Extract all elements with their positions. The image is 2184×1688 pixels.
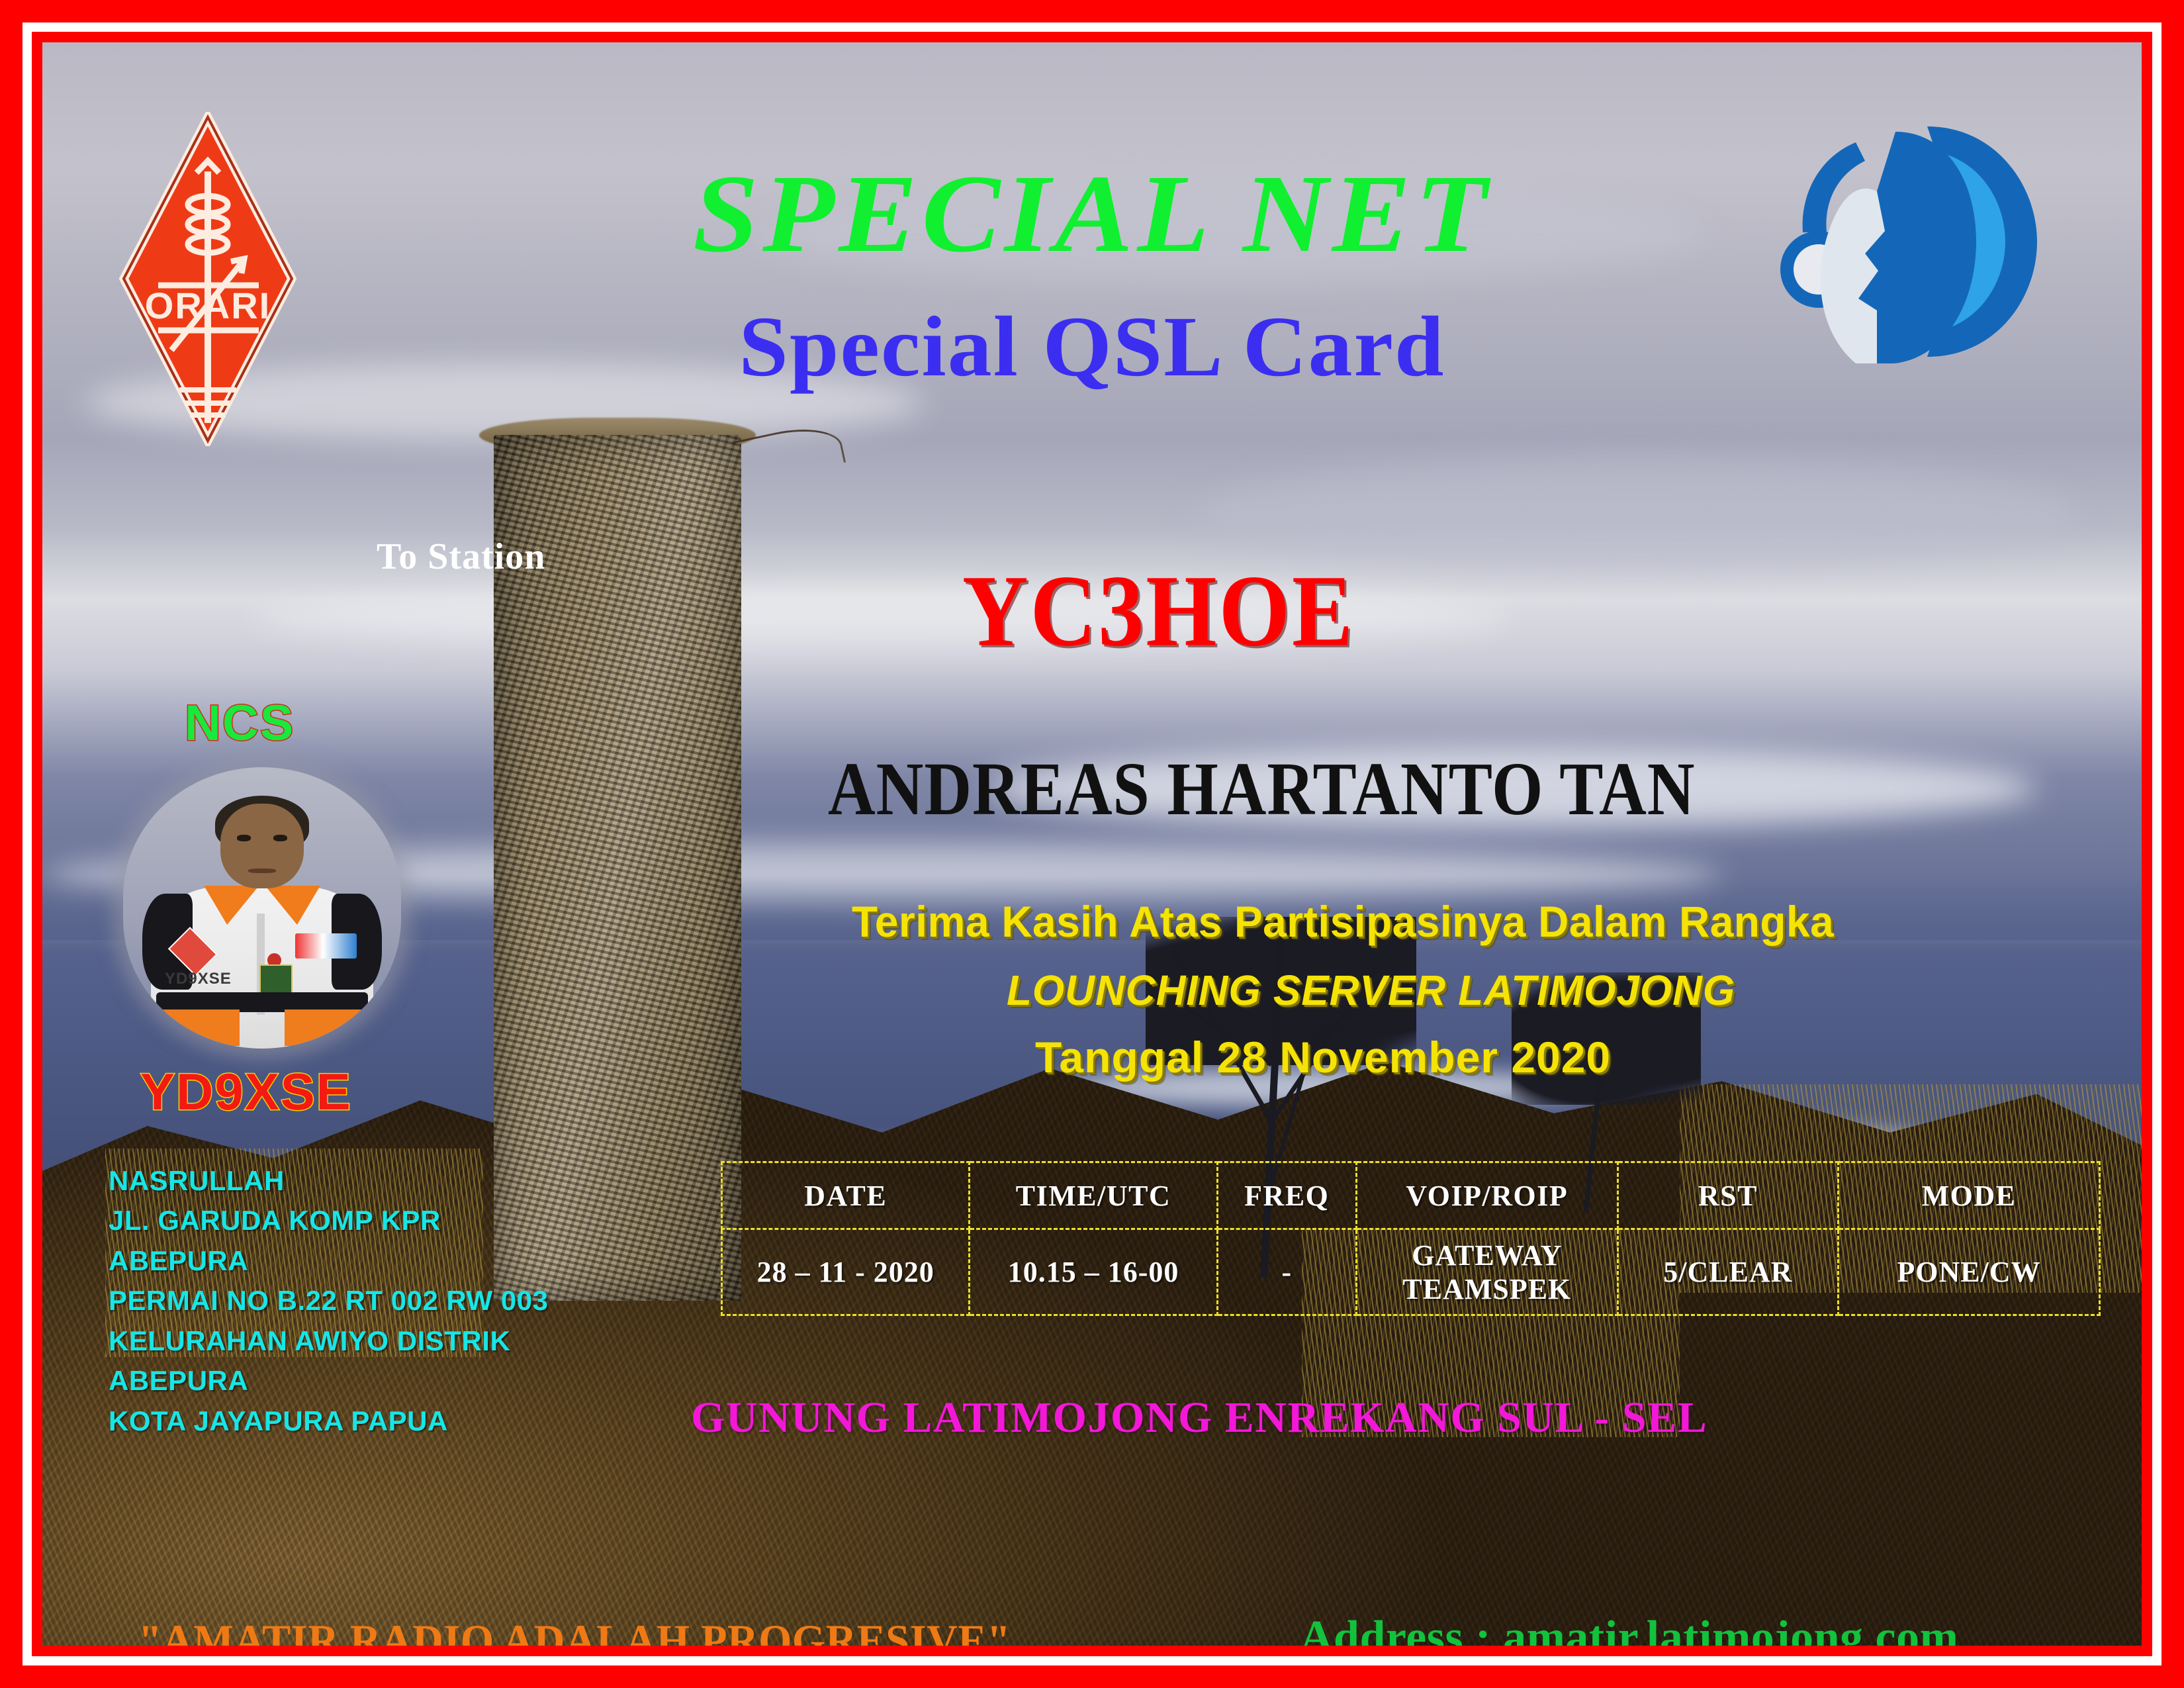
column-header-rst: RST — [1617, 1162, 1838, 1229]
page-title: SPECIAL NET — [42, 158, 2142, 269]
column-header-time: TIME/UTC — [970, 1162, 1217, 1229]
ncs-callsign: YD9XSE — [140, 1062, 352, 1122]
address-block: NASRULLAH JL. GARUDA KOMP KPR ABEPURA PE… — [109, 1161, 548, 1441]
address-line: ABEPURA — [109, 1361, 548, 1401]
motto-text: "AMATIR RADIO ADALAH PROGRESIVE" — [138, 1615, 1011, 1646]
uniform-emblem — [295, 933, 356, 959]
cell-voip-roip-line1: GATEWAY — [1358, 1239, 1616, 1272]
cell-mode: PONE/CW — [1839, 1229, 2100, 1315]
orange-sash-right — [285, 1009, 368, 1046]
thanks-message: Terima Kasih Atas Partisipasinya Dalam R… — [852, 896, 1834, 947]
eye-right — [273, 835, 287, 841]
eye-left — [237, 835, 251, 841]
address-line: JL. GARUDA KOMP KPR — [109, 1201, 548, 1241]
address-line: ABEPURA — [109, 1241, 548, 1281]
cell-time: 10.15 – 16-00 — [970, 1229, 1217, 1315]
column-header-voip-roip: VOIP/ROIP — [1356, 1162, 1617, 1229]
table-row: 28 – 11 - 2020 10.15 – 16-00 - GATEWAY T… — [722, 1229, 2100, 1315]
table-header-row: DATE TIME/UTC FREQ VOIP/ROIP RST MODE — [722, 1162, 2100, 1229]
qso-log-table: DATE TIME/UTC FREQ VOIP/ROIP RST MODE 28… — [721, 1161, 2101, 1316]
operator-photo: YD9XSE — [123, 767, 401, 1049]
event-title: LOUNCHING SERVER LATIMOJONG — [1007, 966, 1735, 1015]
qsl-card: ORARI — [0, 0, 2184, 1688]
column-header-mode: MODE — [1839, 1162, 2100, 1229]
location-text: GUNUNG LATIMOJONG ENREKANG SUL - SEL — [691, 1393, 1707, 1443]
cell-voip-roip: GATEWAY TEAMSPEK — [1356, 1229, 1617, 1315]
column-header-date: DATE — [722, 1162, 970, 1229]
mouth — [248, 868, 276, 873]
to-station-label: To Station — [377, 536, 545, 578]
column-header-freq: FREQ — [1217, 1162, 1356, 1229]
photo-nametag: YD9XSE — [165, 970, 232, 988]
address-line: NASRULLAH — [109, 1161, 548, 1201]
card-background-photo: ORARI — [42, 42, 2142, 1646]
page-subtitle: Special QSL Card — [42, 304, 2142, 390]
web-address-text: Address : amatir.latimojong.com — [1300, 1611, 1958, 1646]
card-red-inner-frame: ORARI — [32, 32, 2152, 1656]
orange-sash-left — [156, 1009, 240, 1046]
face — [220, 804, 304, 888]
cell-rst: 5/CLEAR — [1617, 1229, 1838, 1315]
cell-date: 28 – 11 - 2020 — [722, 1229, 970, 1315]
event-date: Tanggal 28 November 2020 — [1035, 1032, 1611, 1082]
ncs-label: NCS — [185, 694, 295, 752]
address-line: KELURAHAN AWIYO DISTRIK — [109, 1321, 548, 1361]
station-callsign: YC3HOE — [962, 560, 1355, 663]
cell-voip-roip-line2: TEAMSPEK — [1358, 1272, 1616, 1306]
card-white-frame: ORARI — [23, 23, 2161, 1665]
address-line: KOTA JAYAPURA PAPUA — [109, 1401, 548, 1441]
address-line: PERMAI NO B.22 RT 002 RW 003 — [109, 1281, 548, 1321]
cell-freq: - — [1217, 1229, 1356, 1315]
operator-name: ANDREAS HARTANTO TAN — [828, 752, 1695, 827]
